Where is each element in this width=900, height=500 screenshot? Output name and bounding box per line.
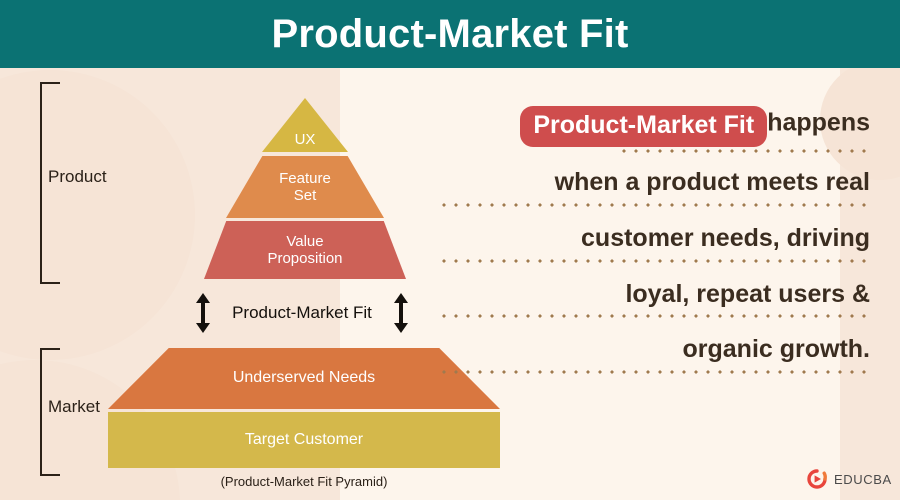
product-market-fit-divider: Product-Market Fit [195,292,409,334]
value-proposition-line1: Value [286,233,323,250]
value-proposition-line2: Proposition [267,250,342,267]
dotted-underline-3 [440,259,870,263]
infographic-canvas: Product-Market Fit Product Market UX Fea… [0,0,900,500]
pyramid-tier-ux-label: UX [295,131,316,152]
product-market-fit-badge: Product-Market Fit [520,106,767,147]
pyramid-tier-target-customer: Target Customer [108,412,500,468]
description-line-2: when a product meets real [440,166,870,209]
double-arrow-right-icon [393,293,409,333]
description-line-4-text: loyal, repeat users & [625,280,870,308]
dotted-underline-5 [440,370,870,374]
pyramid-tier-value-proposition: Value Proposition [204,221,406,279]
bracket-label-product: Product [48,167,107,187]
pyramid-tier-target-customer-label: Target Customer [245,431,363,449]
header-band: Product-Market Fit [0,0,900,68]
pyramid-tier-underserved-needs-label: Underserved Needs [233,369,375,387]
educba-logo: EDUCBA [806,468,892,490]
description-line-3-text: customer needs, driving [581,224,870,252]
description-line-3: customer needs, driving [440,222,870,265]
description-line-2-text: when a product meets real [555,168,870,196]
description-line-1: Product-Market Fithappens [440,106,870,153]
pyramid-caption: (Product-Market Fit Pyramid) [108,474,500,489]
description-block: Product-Market Fithappens when a product… [440,106,870,389]
feature-set-line1: Feature [279,170,331,187]
dotted-underline-4 [440,314,870,318]
pyramid-tier-value-proposition-label: Value Proposition [267,233,342,268]
description-line-4: loyal, repeat users & [440,278,870,321]
feature-set-line2: Set [294,187,317,204]
description-line-5-text: organic growth. [683,335,871,363]
double-arrow-left-icon [195,293,211,333]
dotted-underline-1 [620,149,870,153]
pyramid-tier-feature-set-label: Feature Set [279,170,331,205]
page-title: Product-Market Fit [272,12,629,57]
dotted-underline-2 [440,203,870,207]
bracket-label-market: Market [48,397,100,417]
educba-logo-text: EDUCBA [834,472,892,487]
description-line-5: organic growth. [440,333,870,376]
product-market-fit-divider-label: Product-Market Fit [232,303,372,323]
description-line-1-text: happens [767,109,870,137]
educba-logo-icon [806,468,828,490]
